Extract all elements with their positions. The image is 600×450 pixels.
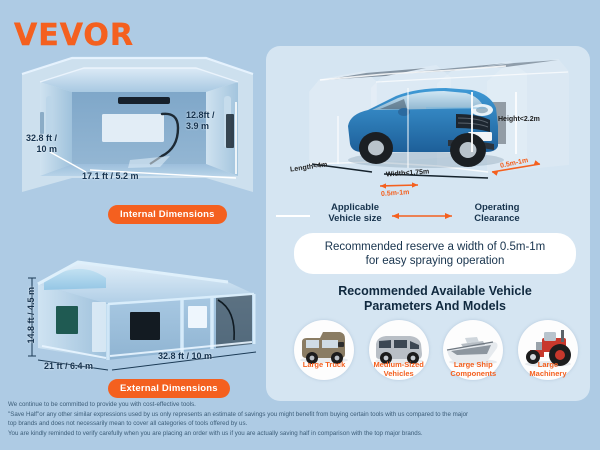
list-item-label: Large Truck	[290, 360, 358, 369]
footer-line-1: We continue to be committed to provide y…	[8, 401, 592, 410]
list-item[interactable]: Medium-Sized Vehicles	[365, 320, 433, 396]
internal-width-label: 17.1 ft / 5.2 m	[82, 171, 139, 182]
list-item[interactable]: Large Truck	[290, 320, 358, 396]
clearance-legend: Applicable Vehicle size Operating Cleara…	[276, 200, 582, 230]
footer-line-2: "Save Half"or any other similar expressi…	[8, 411, 592, 420]
vehicle-clearance-svg	[276, 52, 582, 200]
vevor-logo: VEVOR	[14, 18, 134, 53]
footer-line-4: You are kindly reminded to verify carefu…	[8, 430, 592, 439]
large-truck-icon	[294, 320, 354, 380]
internal-length-label: 32.8 ft / 10 m	[26, 133, 57, 154]
list-item[interactable]: Large Ship Components	[439, 320, 507, 396]
external-width-label: 21 ft / 6.4 m	[44, 361, 93, 372]
list-item-label: Large Ship Components	[439, 360, 507, 378]
internal-dimensions-badge: Internal Dimensions	[108, 205, 227, 224]
recommendation-callout: Recommended reserve a width of 0.5m-1m f…	[294, 233, 576, 274]
internal-booth-image: 32.8 ft / 10 m 17.1 ft / 5.2 m 12.8ft / …	[10, 52, 260, 202]
list-item[interactable]: Large Machinery	[514, 320, 582, 396]
infographic-page: VEVOR	[0, 0, 600, 450]
legend-operating-label: Operating Clearance	[454, 202, 540, 224]
list-item-label: Large Machinery	[514, 360, 582, 378]
external-dimensions-badge: External Dimensions	[108, 379, 230, 398]
external-booth-image: 14.8 ft / 4.5 m 21 ft / 6.4 m 32.8 ft / …	[22, 248, 270, 373]
list-item-label: Medium-Sized Vehicles	[365, 360, 433, 378]
internal-height-label: 12.8ft / 3.9 m	[186, 110, 215, 131]
external-length-label: 32.8 ft / 10 m	[158, 351, 212, 362]
footer-line-3: top brands and does not necessarily mean…	[8, 420, 592, 429]
vehicle-clearance-illustration: Length<4m Width<1.75m Height<2.2m 0.5m-1…	[276, 52, 582, 200]
footer-disclaimer: We continue to be committed to provide y…	[8, 401, 592, 439]
vehicle-height-label: Height<2.2m	[498, 116, 540, 123]
recommended-models-title: Recommended Available Vehicle Parameters…	[294, 284, 576, 314]
legend-applicable-label: Applicable Vehicle size	[312, 202, 398, 224]
recommended-models-list: Large Truck Medium-Sized Vehicles	[290, 320, 582, 396]
external-height-label: 14.8 ft / 4.5 m	[26, 272, 37, 358]
external-booth-illustration	[22, 248, 270, 373]
